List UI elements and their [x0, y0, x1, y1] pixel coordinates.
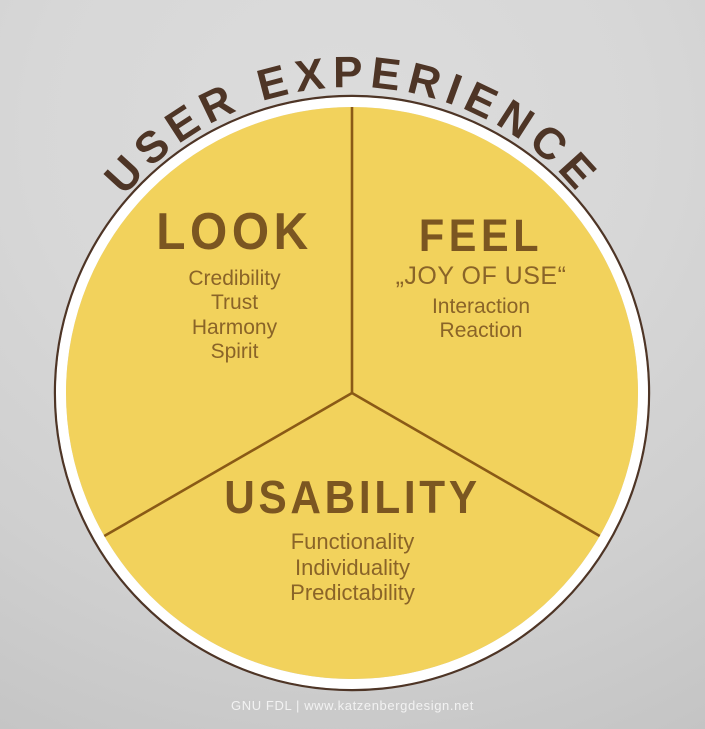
sector-look-item-3: Spirit	[122, 340, 347, 364]
sector-feel-heading: FEEL	[383, 213, 578, 258]
sector-usability-items: Functionality Individuality Predictabili…	[196, 529, 509, 606]
sector-look-item-2: Harmony	[122, 316, 347, 340]
sector-feel-subtitle: „JOY OF USE“	[375, 264, 587, 290]
sector-usability-heading: USABILITY	[209, 474, 497, 520]
sector-look-item-0: Credibility	[122, 267, 347, 291]
sector-usability-item-2: Predictability	[196, 580, 509, 606]
sector-feel-item-1: Reaction	[375, 319, 587, 343]
sector-usability-item-0: Functionality	[196, 529, 509, 555]
sector-usability: USABILITY Functionality Individuality Pr…	[196, 474, 509, 606]
sector-look: LOOK Credibility Trust Harmony Spirit	[122, 206, 347, 364]
sector-look-heading: LOOK	[131, 206, 338, 258]
sector-usability-item-1: Individuality	[196, 555, 509, 581]
sector-look-item-1: Trust	[122, 291, 347, 315]
footer-credit: GNU FDL | www.katzenbergdesign.net	[0, 698, 705, 713]
sector-feel-item-0: Interaction	[375, 295, 587, 319]
sector-feel-items: Interaction Reaction	[375, 295, 587, 344]
user-experience-pie-diagram: USER EXPERIENCE	[0, 0, 705, 729]
sector-feel: FEEL „JOY OF USE“ Interaction Reaction	[375, 213, 587, 343]
diagram-canvas: USER EXPERIENCE LOOK Credibility Trust H…	[0, 0, 705, 729]
sector-look-items: Credibility Trust Harmony Spirit	[122, 267, 347, 364]
